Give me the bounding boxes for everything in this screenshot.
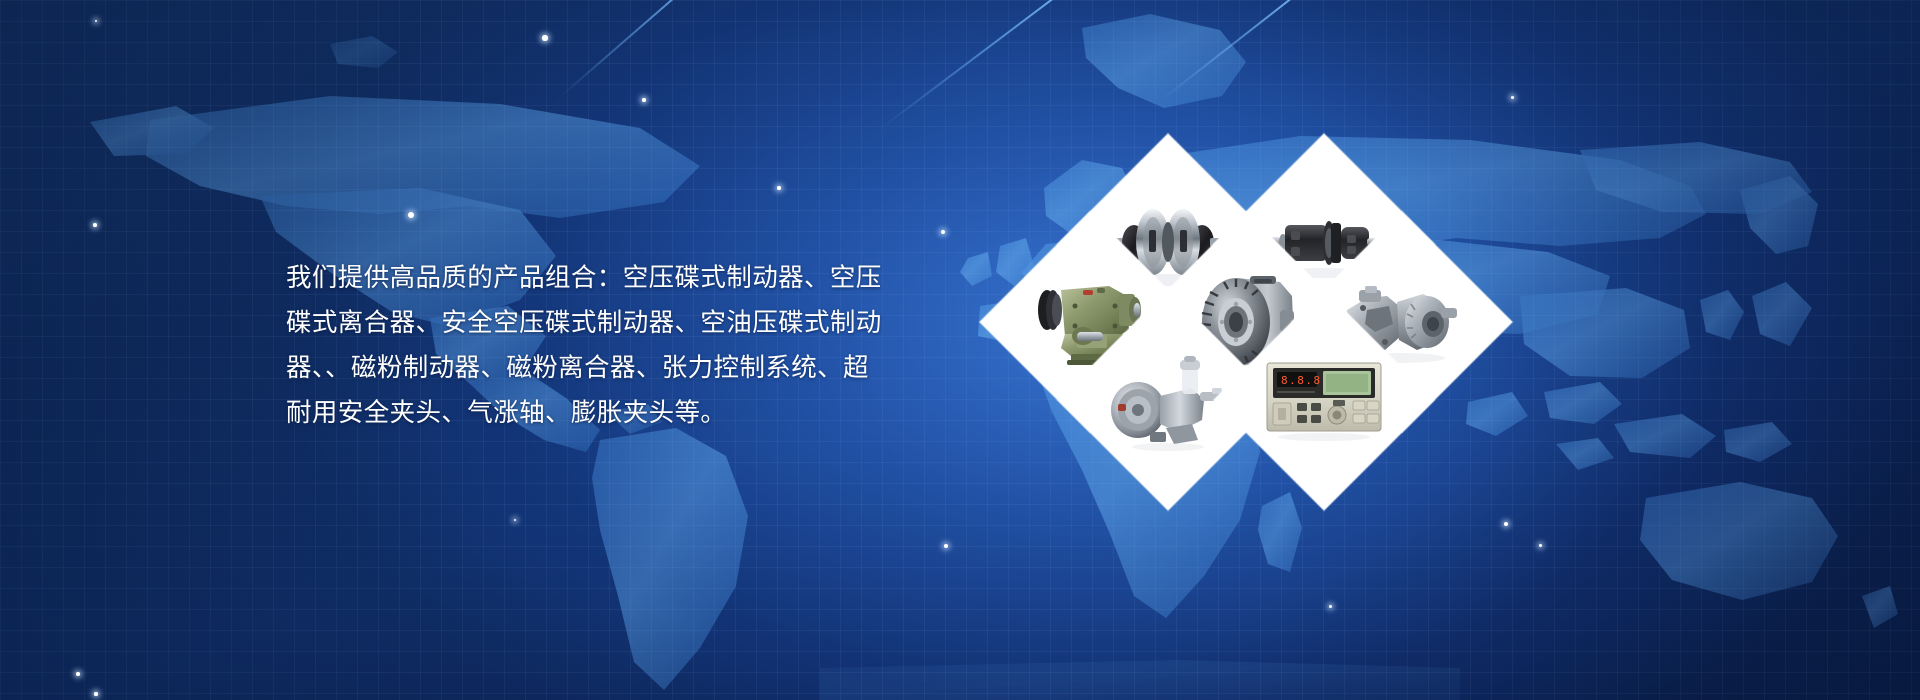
copy-line-1: 我们提供高品质的产品组合：空压碟式制动器、空压 xyxy=(286,256,778,301)
light-streak xyxy=(879,0,1200,130)
star-dot xyxy=(408,212,414,218)
star-dot xyxy=(1329,605,1332,608)
star-dot xyxy=(642,98,645,101)
copy-line-2: 碟式离合器、安全空压碟式制动器、空油压碟式制动 xyxy=(286,301,778,346)
intro-copy-block: 我们提供高品质的产品组合：空压碟式制动器、空压 碟式离合器、安全空压碟式制动器、… xyxy=(286,256,778,436)
star-dot xyxy=(95,20,98,23)
star-dot xyxy=(542,35,547,40)
star-dot xyxy=(777,186,780,189)
star-dot xyxy=(93,223,97,227)
star-dot xyxy=(76,672,80,676)
copy-line-4: 耐用安全夹头、气涨轴、膨胀夹头等。 xyxy=(286,391,778,436)
star-dot xyxy=(1539,544,1542,547)
product-hero-banner: 我们提供高品质的产品组合：空压碟式制动器、空压 碟式离合器、安全空压碟式制动器、… xyxy=(0,0,1920,700)
product-diamond-grid: 8.8.8. xyxy=(1090,166,1462,538)
tension-controller-photo: 8.8.8. xyxy=(1246,322,1402,478)
star-dot xyxy=(94,692,97,695)
star-dot xyxy=(941,230,946,235)
star-dot xyxy=(944,544,948,548)
light-streak xyxy=(1159,0,1397,102)
star-dot xyxy=(1511,96,1514,99)
light-streak xyxy=(559,0,809,98)
star-dot xyxy=(1504,522,1508,526)
svg-text:8.8.8.: 8.8.8. xyxy=(1281,374,1330,387)
star-dot xyxy=(514,519,517,522)
copy-line-3: 器、、磁粉制动器、磁粉离合器、张力控制系统、超 xyxy=(286,346,778,391)
